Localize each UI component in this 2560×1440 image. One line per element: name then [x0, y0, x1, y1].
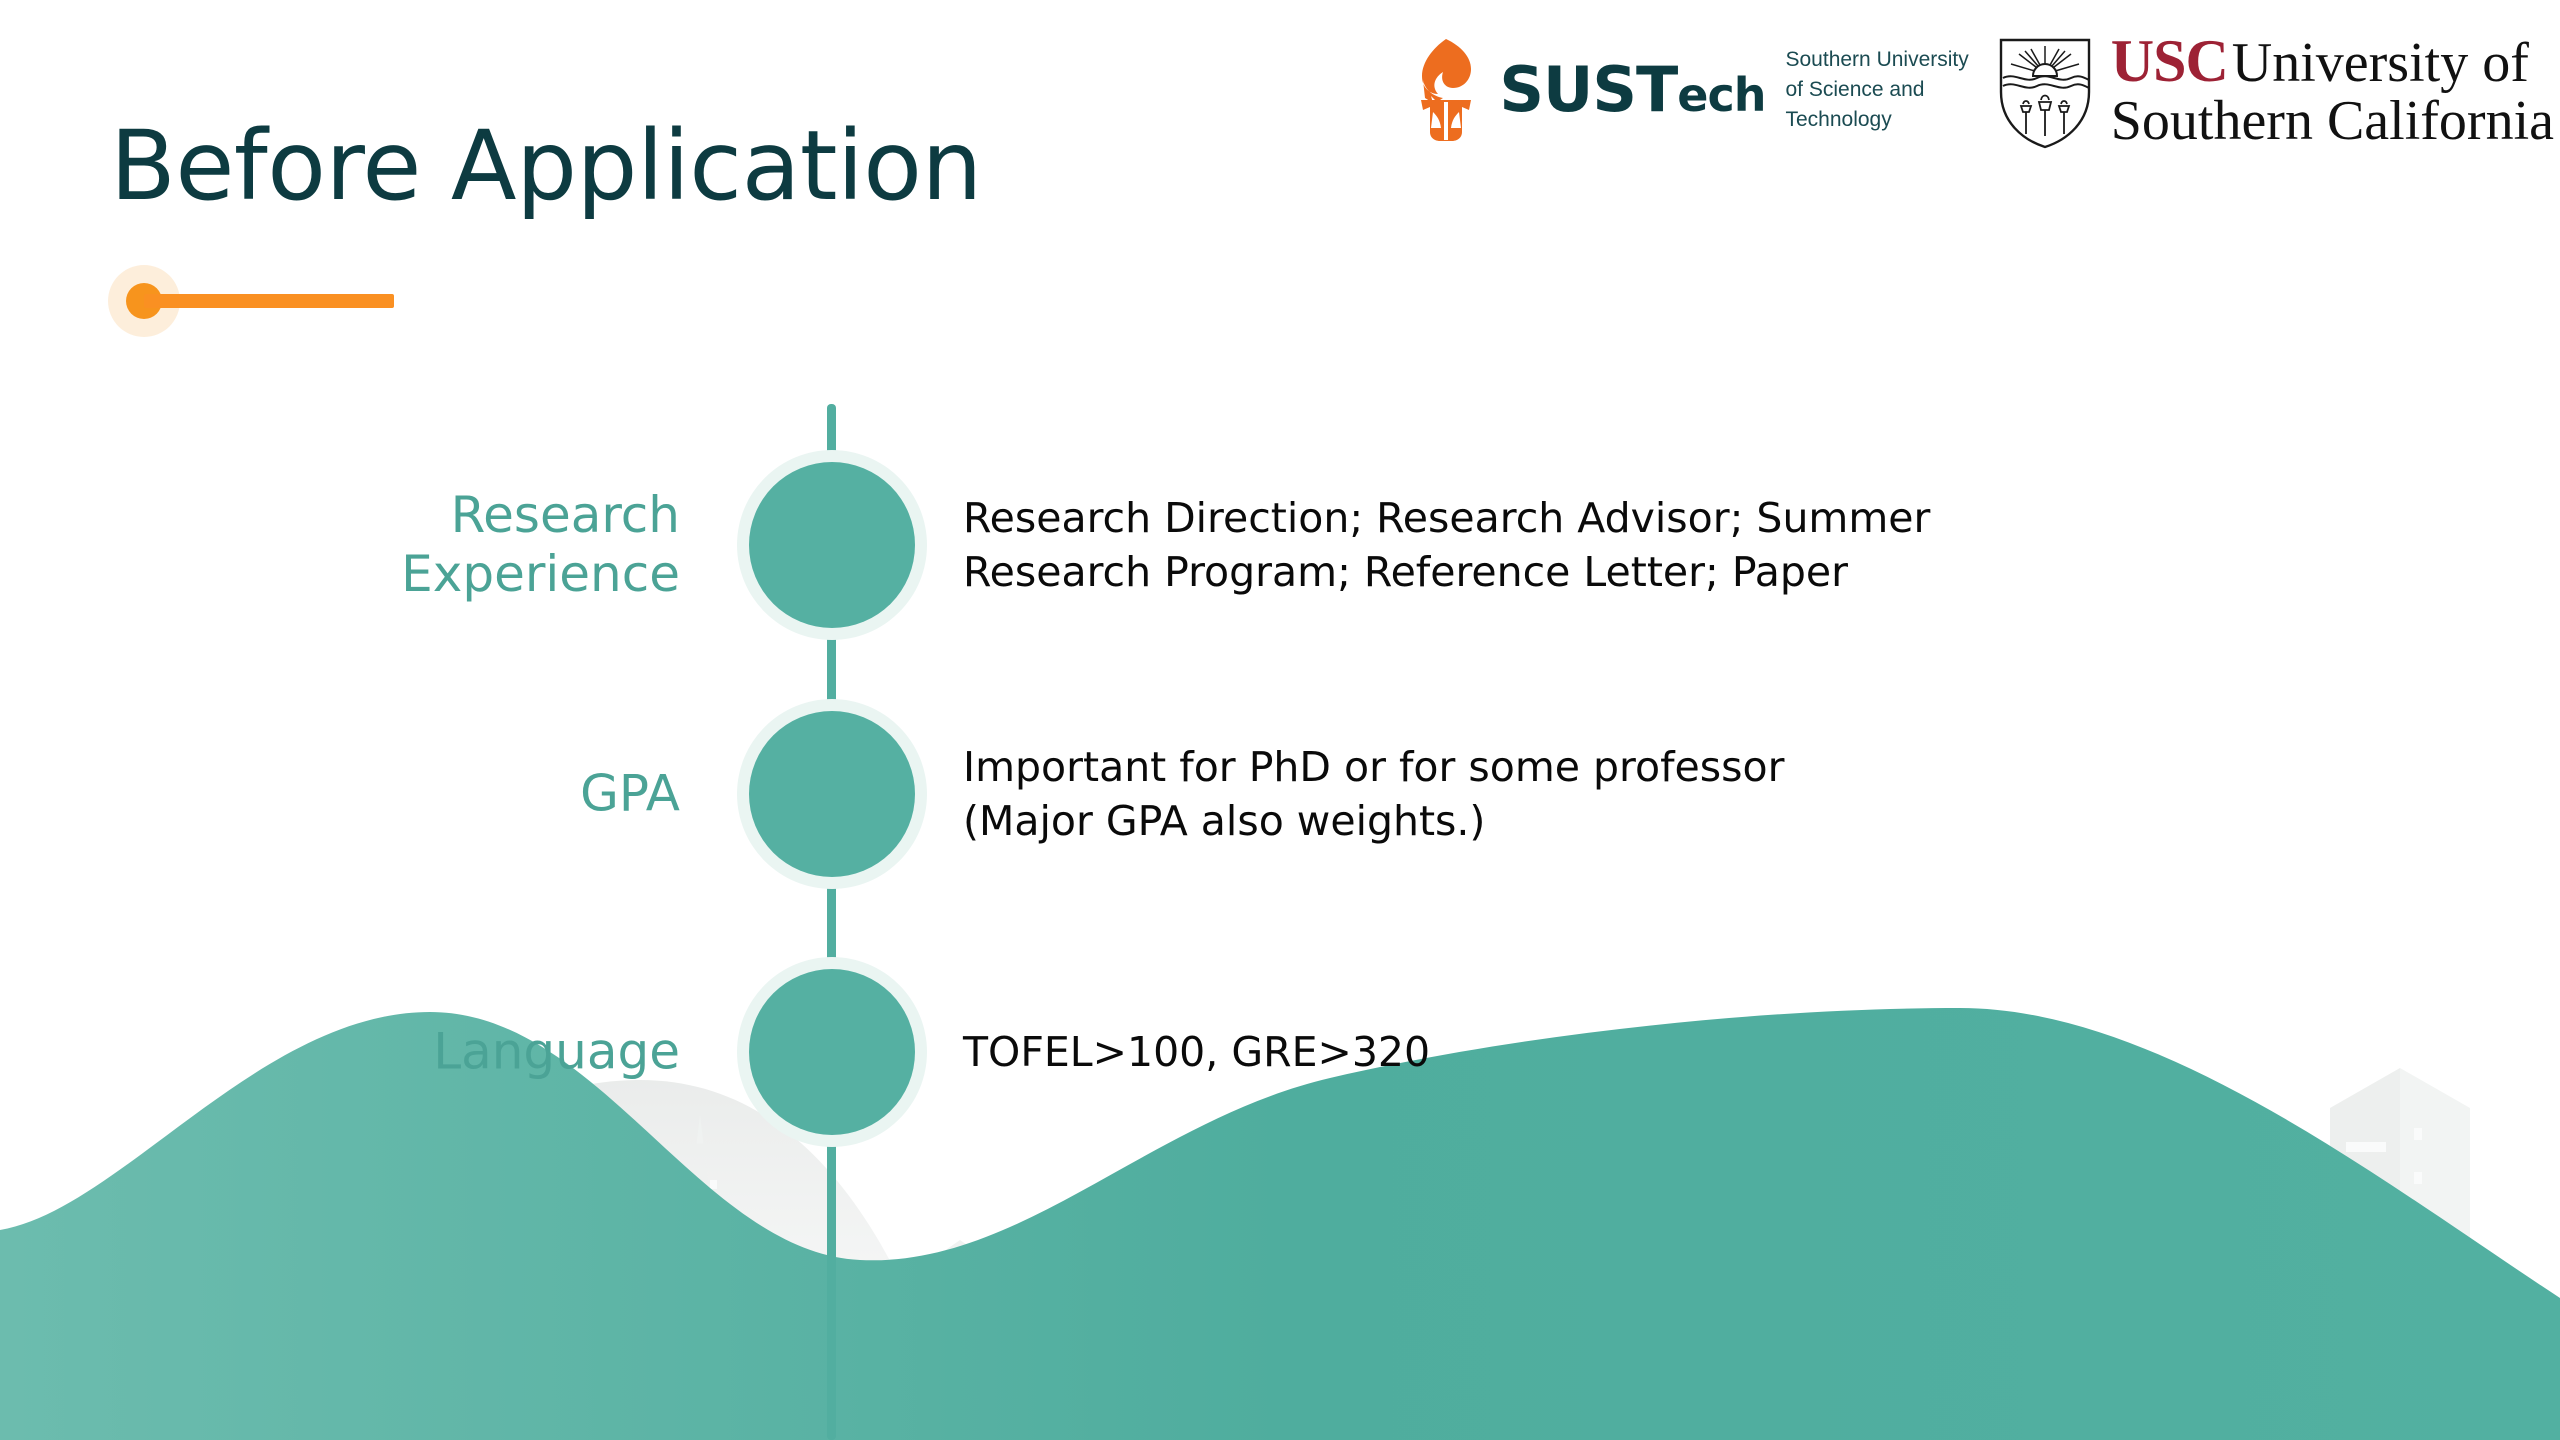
timeline-node-fill — [749, 711, 915, 877]
timeline-description: TOFEL>100, GRE>320 — [963, 1025, 1430, 1079]
sustech-wordmark: SUSTech — [1499, 59, 1765, 121]
timeline-label: Research Experience — [401, 486, 680, 604]
sustech-tagline-line2: of Science and — [1786, 78, 1925, 101]
timeline-label: GPA — [580, 765, 680, 824]
usc-wordmark: USC University of Southern California — [2111, 31, 2554, 149]
sustech-tagline-line3: Technology — [1786, 108, 1892, 131]
timeline-label: Language — [433, 1023, 680, 1082]
sustech-tagline: Southern University of Science and Techn… — [1786, 45, 1969, 134]
timeline: Research Experience Research Direction; … — [0, 0, 2560, 1440]
sustech-tagline-line1: Southern University — [1786, 48, 1969, 71]
logo-group: SUSTech Southern University of Science a… — [1407, 30, 2554, 150]
slide-canvas: Before Application SUSTech Southern Univ… — [0, 0, 2560, 1440]
sustech-logo: SUSTech Southern University of Science a… — [1407, 36, 1968, 144]
timeline-node-icon[interactable] — [737, 957, 927, 1147]
usc-name-line2: Southern California — [2111, 93, 2554, 149]
usc-mark: USC — [2111, 31, 2228, 91]
timeline-node-icon[interactable] — [737, 450, 927, 640]
torch-icon — [1407, 36, 1485, 144]
timeline-node-fill — [749, 969, 915, 1135]
timeline-description: Important for PhD or for some professor … — [963, 740, 1784, 848]
timeline-node-fill — [749, 462, 915, 628]
usc-shield-icon — [1995, 30, 2095, 150]
usc-name-line1: University of — [2232, 35, 2529, 91]
timeline-description: Research Direction; Research Advisor; Su… — [963, 491, 1930, 599]
timeline-node-icon[interactable] — [737, 699, 927, 889]
usc-logo: USC University of Southern California — [1995, 30, 2554, 150]
